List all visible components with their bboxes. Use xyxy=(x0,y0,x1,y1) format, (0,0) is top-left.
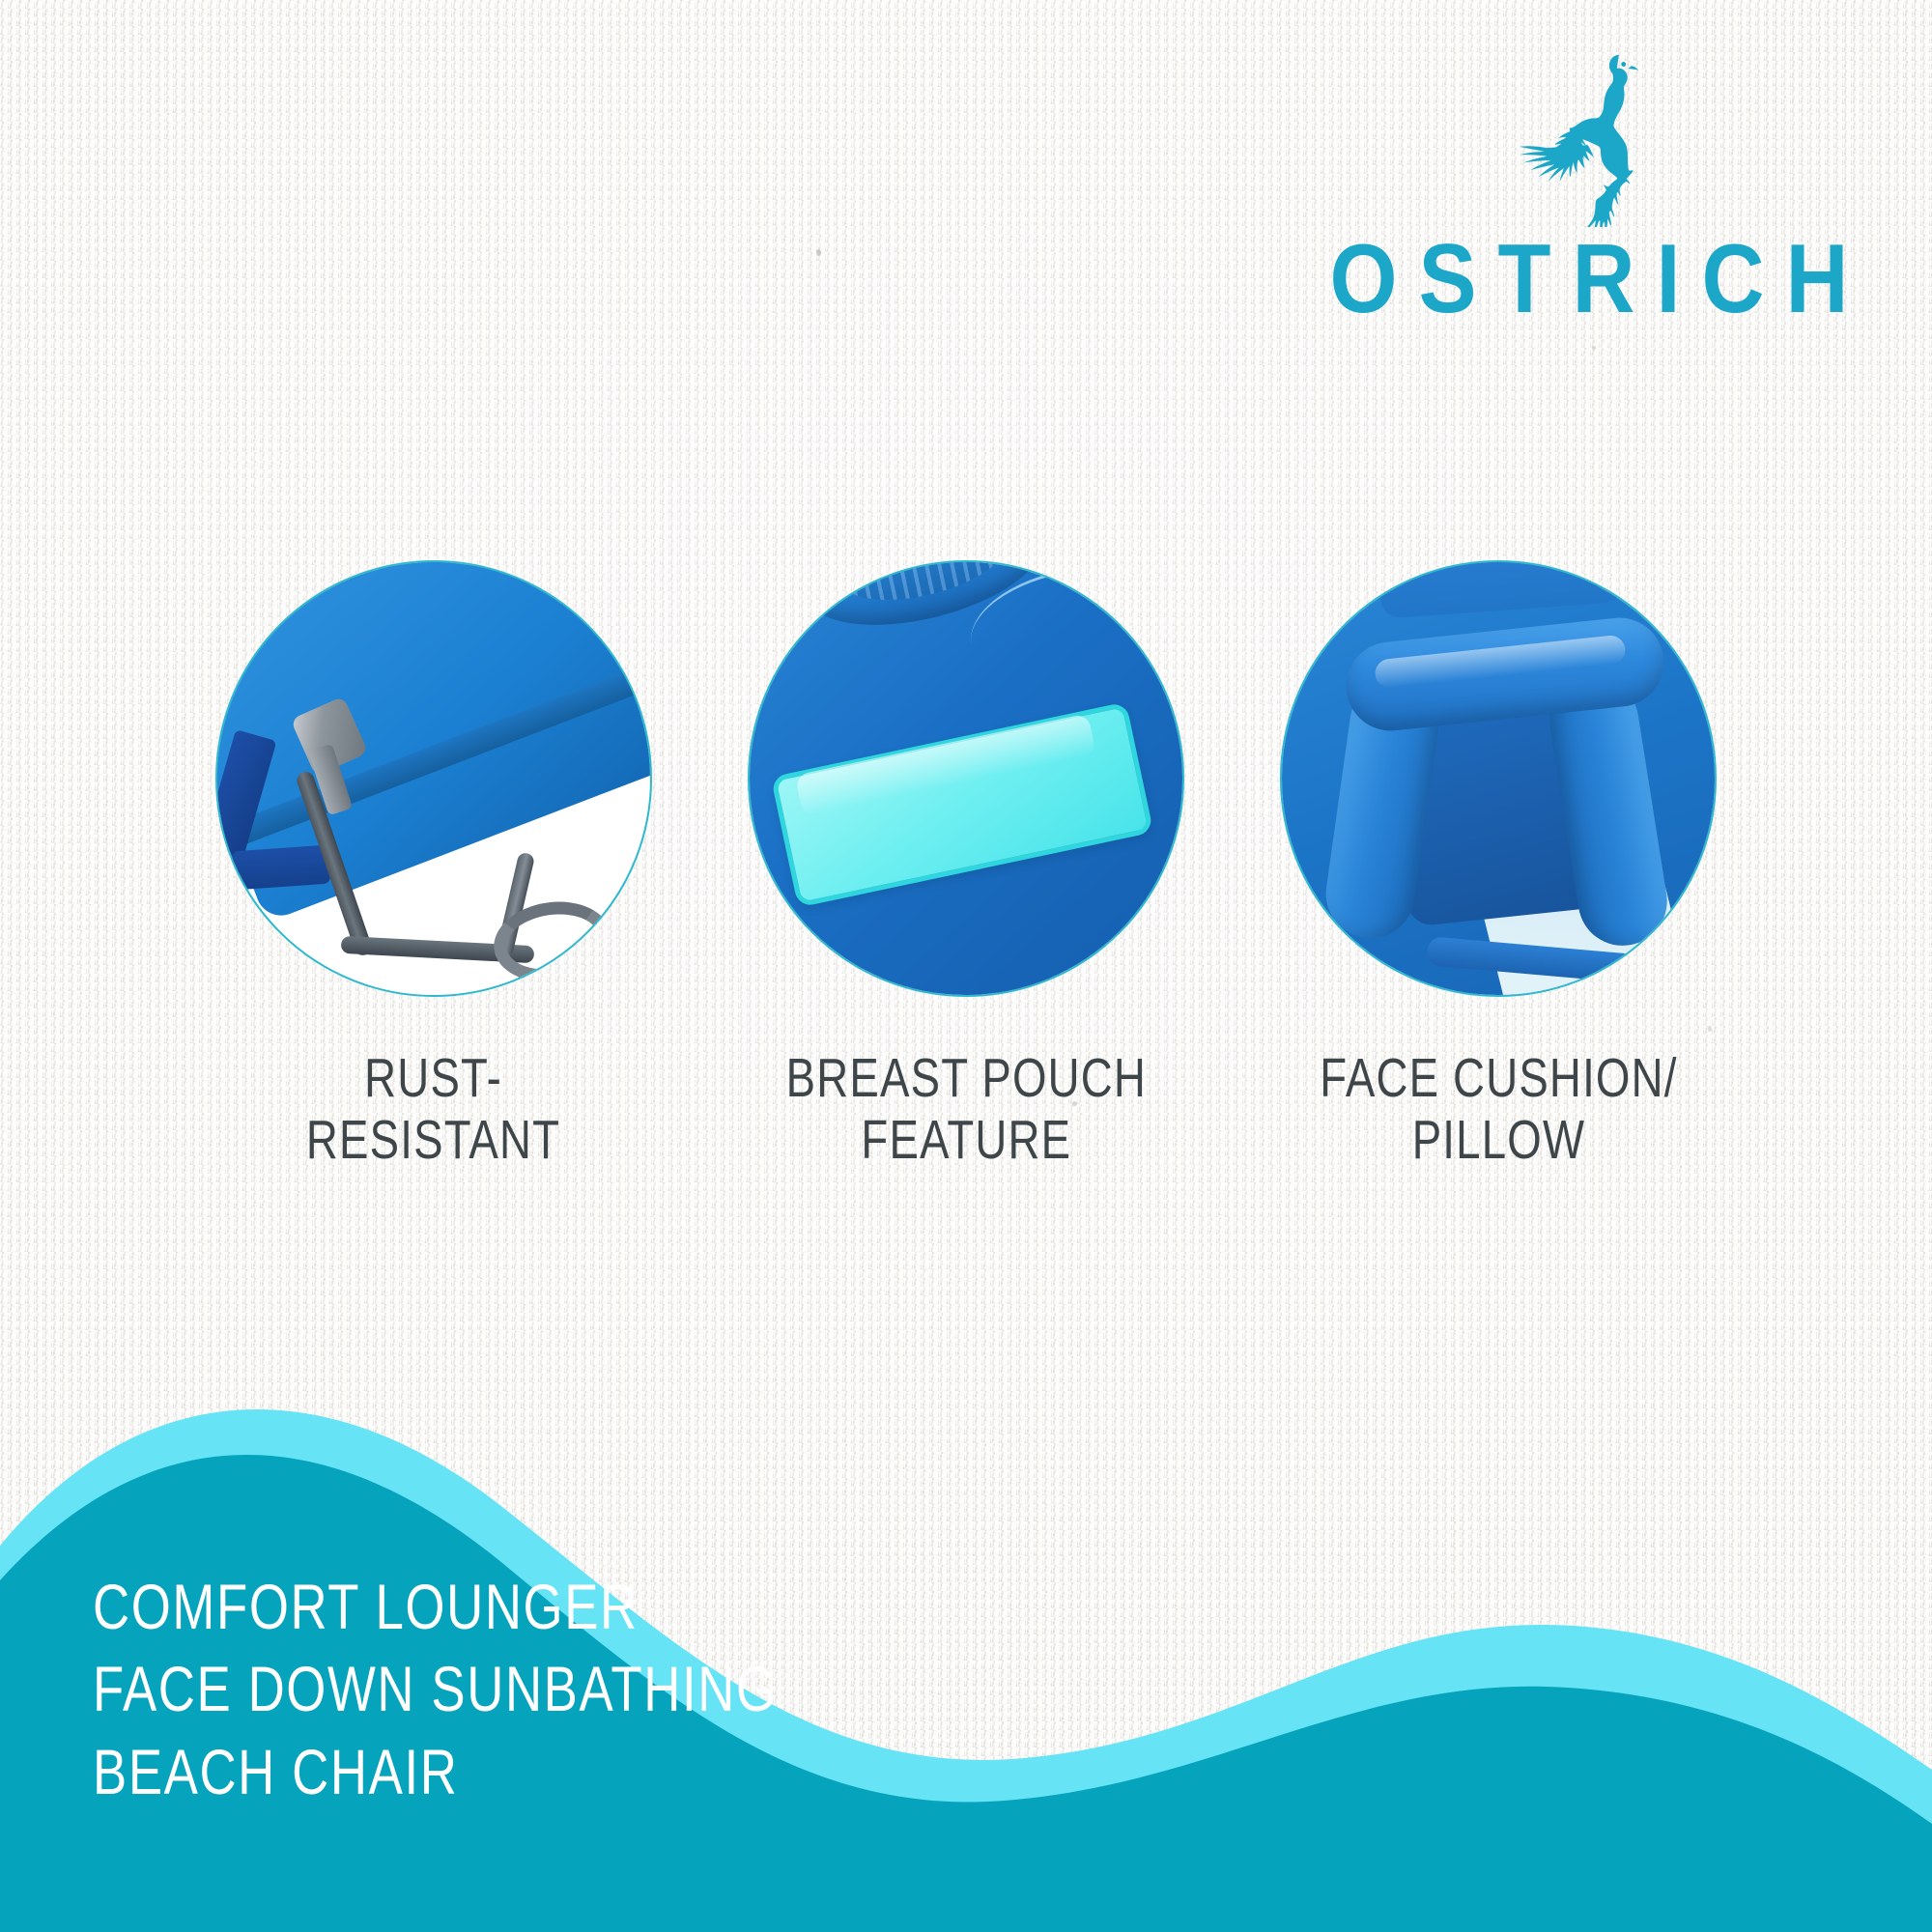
feature-list: RUST- RESISTANT BREAST POUCH FEATURE xyxy=(0,560,1932,1236)
brand-wordmark: OSTRICH xyxy=(1309,231,1870,328)
feature-caption-breast-pouch: BREAST POUCH FEATURE xyxy=(785,1047,1146,1172)
ostrich-bird-icon xyxy=(1497,43,1681,227)
feature-image-breast-pouch xyxy=(748,560,1184,997)
feature-face-cushion: FACE CUSHION/ PILLOW xyxy=(1255,560,1743,1172)
feature-caption-face-cushion: FACE CUSHION/ PILLOW xyxy=(1320,1047,1677,1172)
feature-caption-rust-resistant: RUST- RESISTANT xyxy=(306,1047,560,1172)
feature-rust-resistant: RUST- RESISTANT xyxy=(190,560,678,1172)
feature-image-face-cushion xyxy=(1280,560,1717,997)
feature-image-rust-resistant xyxy=(215,560,652,997)
brand-lockup: OSTRICH xyxy=(1299,43,1879,324)
product-title: COMFORT LOUNGER FACE DOWN SUNBATHING BEA… xyxy=(93,1566,778,1814)
product-feature-poster: OSTRICH RUST- RESISTANT xyxy=(0,0,1932,1932)
feature-breast-pouch: BREAST POUCH FEATURE xyxy=(723,560,1210,1172)
